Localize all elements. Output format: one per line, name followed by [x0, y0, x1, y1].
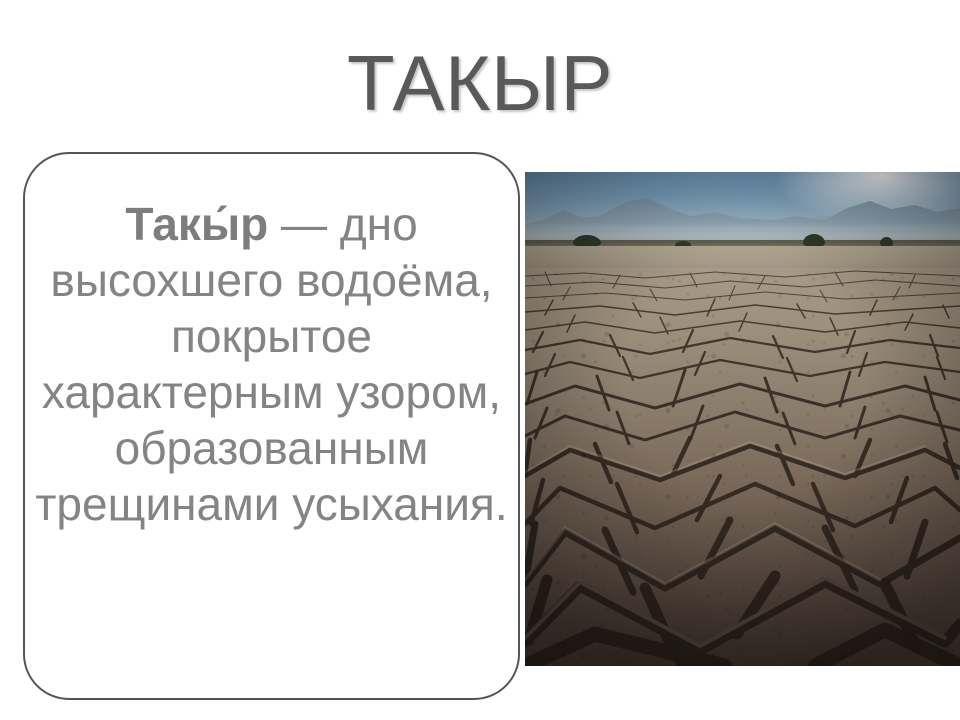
definition-separator: —	[268, 198, 340, 250]
definition-text: Такы́р — дно высохшего водоёма, покрытое…	[35, 196, 508, 532]
definition-box: Такы́р — дно высохшего водоёма, покрытое…	[23, 152, 520, 700]
slide: ТАКЫР Такы́р — дно высохшего водоёма, по…	[0, 0, 960, 720]
photo-crack-network	[525, 172, 960, 666]
page-title: ТАКЫР	[0, 44, 960, 122]
takyr-photo	[525, 172, 960, 666]
definition-term: Такы́р	[125, 198, 268, 250]
